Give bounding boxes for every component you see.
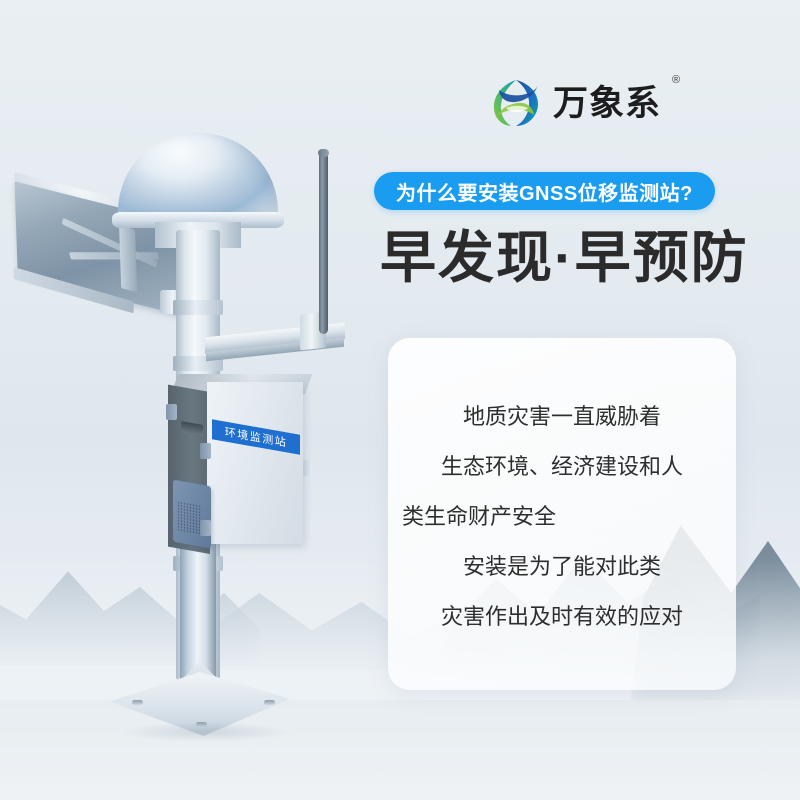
gnss-monitoring-station-illustration: 环境监测站 <box>0 0 400 800</box>
brand-logo: 万象系 ® <box>490 68 670 138</box>
cabinet-hinge-upper <box>166 404 177 420</box>
question-banner-text: 为什么要安装GNSS位移监测站? <box>396 177 693 206</box>
solar-panel-brace-2 <box>69 252 159 259</box>
registered-trademark-icon: ® <box>672 74 680 86</box>
page-title: 早发现·早预防 <box>380 226 749 290</box>
question-banner: 为什么要安装GNSS位移监测站? <box>374 172 715 210</box>
cabinet-hinge-lower <box>200 520 211 536</box>
description-line-2: 生态环境、经济建设和人 <box>388 455 736 479</box>
whip-antenna <box>319 152 328 334</box>
description-line-4: 安装是为了能对此类 <box>388 555 736 579</box>
poster-stage: 环境监测站 <box>0 0 800 800</box>
base-bolt-hole-left <box>132 700 143 705</box>
mast-collar-upper <box>173 300 223 315</box>
description-line-5: 灾害作出及时有效的应对 <box>388 605 736 629</box>
cabinet-front-face <box>207 382 303 544</box>
cabinet-hinge-mid <box>200 443 211 459</box>
base-bolt-hole-right <box>264 700 275 705</box>
solar-panel-brace-3 <box>119 226 137 293</box>
base-ground-shadow <box>118 722 294 742</box>
cabinet-latch <box>303 460 312 476</box>
globe-swirl-logo-icon <box>490 77 542 129</box>
description-line-3: 类生命财产安全 <box>388 505 736 529</box>
description-card-body: 地质灾害一直威胁着 生态环境、经济建设和人 类生命财产安全 安装是为了能对此类 … <box>388 352 736 682</box>
gnss-antenna-dome <box>118 133 278 221</box>
cabinet-louver-grid <box>177 501 201 535</box>
brand-name: 万象系 <box>553 86 661 121</box>
whip-antenna-cap <box>318 149 329 157</box>
description-line-1: 地质灾害一直威胁着 <box>388 405 736 429</box>
